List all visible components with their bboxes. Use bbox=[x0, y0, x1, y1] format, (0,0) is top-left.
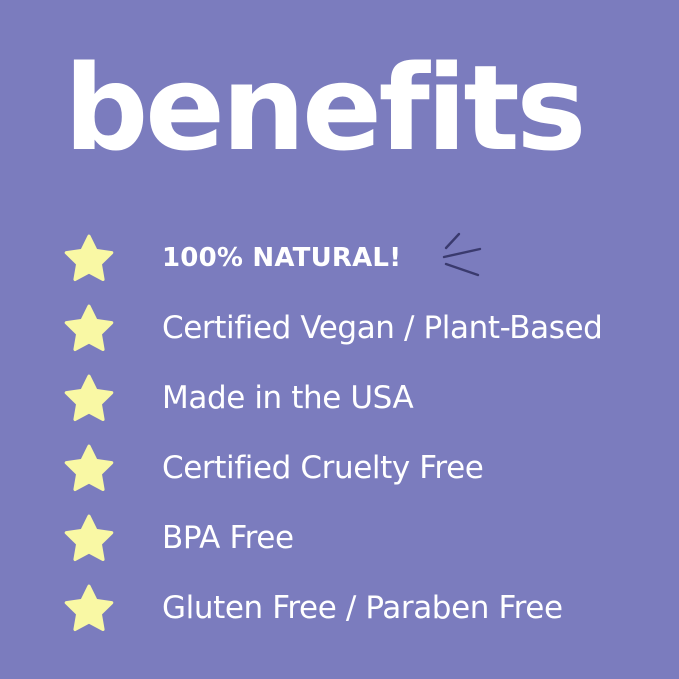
benefit-label: 100% NATURAL! bbox=[162, 240, 401, 276]
benefit-row: BPA Free bbox=[0, 503, 679, 573]
benefit-row: Certified Cruelty Free bbox=[0, 433, 679, 503]
benefit-label: BPA Free bbox=[162, 520, 294, 556]
benefit-row: Made in the USA bbox=[0, 363, 679, 433]
emphasis-marks-icon bbox=[436, 230, 492, 286]
star-icon bbox=[64, 303, 114, 353]
benefit-label: Certified Cruelty Free bbox=[162, 450, 483, 486]
star-icon bbox=[64, 583, 114, 633]
star-icon bbox=[64, 233, 114, 283]
benefit-row: Gluten Free / Paraben Free bbox=[0, 573, 679, 643]
benefits-list: 100% NATURAL!Certified Vegan / Plant-Bas… bbox=[0, 0, 679, 679]
benefit-label: Certified Vegan / Plant-Based bbox=[162, 310, 602, 346]
star-icon bbox=[64, 373, 114, 423]
benefit-label: Made in the USA bbox=[162, 380, 413, 416]
benefit-label: Gluten Free / Paraben Free bbox=[162, 590, 563, 626]
benefits-poster: benefits 100% NATURAL!Certified Vegan / … bbox=[0, 0, 679, 679]
benefit-row: 100% NATURAL! bbox=[0, 223, 679, 293]
star-icon bbox=[64, 513, 114, 563]
star-icon bbox=[64, 443, 114, 493]
benefit-row: Certified Vegan / Plant-Based bbox=[0, 293, 679, 363]
